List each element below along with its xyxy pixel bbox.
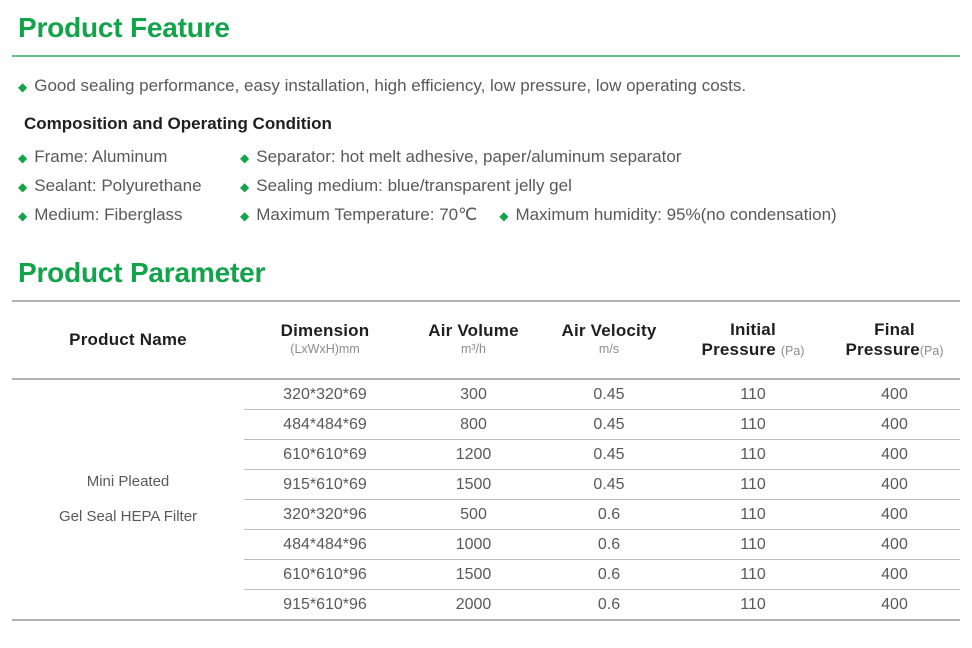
cell-initial-pressure: 110 — [677, 440, 829, 470]
diamond-bullet-icon: ◆ — [240, 210, 249, 222]
cell-air-velocity: 0.6 — [541, 500, 677, 530]
cell-air-velocity: 0.45 — [541, 470, 677, 500]
table-row: Mini Pleated Gel Seal HEPA Filter 320*32… — [12, 379, 960, 410]
column-header-title-text: Pressure — [846, 340, 920, 359]
cell-air-velocity: 0.6 — [541, 590, 677, 620]
composition-item-sealant: ◆ Sealant: Polyurethane — [18, 177, 240, 194]
cell-initial-pressure: 110 — [677, 590, 829, 620]
cell-final-pressure: 400 — [829, 560, 960, 590]
cell-final-pressure: 400 — [829, 379, 960, 410]
cell-air-velocity: 0.6 — [541, 560, 677, 590]
cell-initial-pressure: 110 — [677, 470, 829, 500]
column-header-title: Product Name — [12, 330, 244, 350]
composition-item-label: Separator: hot melt adhesive, paper/alum… — [256, 148, 681, 165]
column-header-title-text: Pressure — [702, 340, 776, 359]
table-body: Mini Pleated Gel Seal HEPA Filter 320*32… — [12, 379, 960, 619]
composition-item-frame: ◆ Frame: Aluminum — [18, 148, 240, 165]
column-header-dimension: Dimension (LxWxH)mm — [244, 302, 406, 379]
cell-air-volume: 1200 — [406, 440, 541, 470]
column-header-title: Dimension — [244, 321, 406, 341]
cell-dimension: 915*610*69 — [244, 470, 406, 500]
diamond-bullet-icon: ◆ — [18, 81, 27, 93]
product-feature-divider — [12, 55, 960, 57]
cell-final-pressure: 400 — [829, 530, 960, 560]
diamond-bullet-icon: ◆ — [240, 152, 249, 164]
cell-dimension: 320*320*69 — [244, 379, 406, 410]
cell-final-pressure: 400 — [829, 500, 960, 530]
cell-air-volume: 2000 — [406, 590, 541, 620]
composition-sub-heading: Composition and Operating Condition — [18, 115, 960, 132]
column-header-air-volume: Air Volume m³/h — [406, 302, 541, 379]
product-spec-page: Product Feature ◆ Good sealing performan… — [0, 0, 972, 648]
product-parameter-table: Product Name Dimension (LxWxH)mm Air Vol… — [12, 302, 960, 619]
cell-dimension: 610*610*69 — [244, 440, 406, 470]
cell-final-pressure: 400 — [829, 590, 960, 620]
diamond-bullet-icon: ◆ — [18, 210, 27, 222]
cell-dimension: 320*320*96 — [244, 500, 406, 530]
product-name-line-1: Mini Pleated — [12, 465, 244, 500]
composition-item-label: Frame: Aluminum — [34, 148, 167, 165]
product-parameter-header-wrap: Product Parameter — [12, 245, 960, 302]
cell-final-pressure: 400 — [829, 410, 960, 440]
cell-final-pressure: 400 — [829, 470, 960, 500]
feature-bullet-item: ◆ Good sealing performance, easy install… — [18, 77, 960, 94]
composition-item-medium: ◆ Medium: Fiberglass — [18, 206, 240, 223]
product-feature-heading: Product Feature — [12, 0, 960, 42]
cell-air-volume: 800 — [406, 410, 541, 440]
column-header-unit: (LxWxH)mm — [244, 340, 406, 359]
composition-row: ◆ Medium: Fiberglass ◆ Maximum Temperatu… — [18, 206, 960, 223]
diamond-bullet-icon: ◆ — [18, 152, 27, 164]
cell-product-name: Mini Pleated Gel Seal HEPA Filter — [12, 379, 244, 619]
column-header-final-pressure: Final Pressure(Pa) — [829, 302, 960, 379]
table-bottom-divider — [12, 619, 960, 621]
table-header: Product Name Dimension (LxWxH)mm Air Vol… — [12, 302, 960, 379]
cell-dimension: 484*484*96 — [244, 530, 406, 560]
cell-air-velocity: 0.45 — [541, 379, 677, 410]
composition-item-max-temperature: ◆ Maximum Temperature: 70℃ — [240, 206, 477, 223]
composition-item-sealing-medium: ◆ Sealing medium: blue/transparent jelly… — [240, 177, 572, 194]
cell-air-volume: 1000 — [406, 530, 541, 560]
column-header-title: Air Velocity — [541, 321, 677, 341]
feature-bullet-text: Good sealing performance, easy installat… — [34, 77, 746, 94]
composition-item-separator: ◆ Separator: hot melt adhesive, paper/al… — [240, 148, 681, 165]
column-header-title-line1: Initial — [677, 320, 829, 340]
cell-air-volume: 500 — [406, 500, 541, 530]
cell-dimension: 915*610*96 — [244, 590, 406, 620]
composition-item-label: Maximum humidity: 95%(no condensation) — [515, 206, 836, 223]
product-feature-body: ◆ Good sealing performance, easy install… — [12, 77, 960, 132]
composition-row: ◆ Frame: Aluminum ◆ Separator: hot melt … — [18, 148, 960, 165]
composition-row: ◆ Sealant: Polyurethane ◆ Sealing medium… — [18, 177, 960, 194]
column-header-title-line2: Pressure (Pa) — [677, 340, 829, 360]
column-header-air-velocity: Air Velocity m/s — [541, 302, 677, 379]
cell-air-velocity: 0.6 — [541, 530, 677, 560]
column-header-unit: (Pa) — [920, 344, 944, 358]
column-header-unit: (Pa) — [781, 344, 805, 358]
cell-dimension: 484*484*69 — [244, 410, 406, 440]
column-header-unit: m³/h — [406, 340, 541, 359]
composition-item-label: Sealant: Polyurethane — [34, 177, 201, 194]
product-name-line-2: Gel Seal HEPA Filter — [12, 500, 244, 535]
cell-initial-pressure: 110 — [677, 530, 829, 560]
cell-air-volume: 1500 — [406, 470, 541, 500]
composition-item-max-humidity: ◆ Maximum humidity: 95%(no condensation) — [499, 206, 837, 223]
column-header-initial-pressure: Initial Pressure (Pa) — [677, 302, 829, 379]
composition-item-label: Medium: Fiberglass — [34, 206, 182, 223]
product-parameter-heading: Product Parameter — [12, 245, 960, 287]
cell-dimension: 610*610*96 — [244, 560, 406, 590]
column-header-title-line2: Pressure(Pa) — [829, 340, 960, 360]
column-header-title: Air Volume — [406, 321, 541, 341]
cell-air-velocity: 0.45 — [541, 410, 677, 440]
composition-grid: ◆ Frame: Aluminum ◆ Separator: hot melt … — [12, 148, 960, 223]
cell-air-velocity: 0.45 — [541, 440, 677, 470]
cell-air-volume: 1500 — [406, 560, 541, 590]
diamond-bullet-icon: ◆ — [499, 210, 508, 222]
diamond-bullet-icon: ◆ — [18, 181, 27, 193]
table-header-row: Product Name Dimension (LxWxH)mm Air Vol… — [12, 302, 960, 379]
cell-air-volume: 300 — [406, 379, 541, 410]
composition-item-label: Maximum Temperature: 70℃ — [256, 206, 477, 223]
cell-initial-pressure: 110 — [677, 500, 829, 530]
column-header-unit: m/s — [541, 340, 677, 359]
cell-initial-pressure: 110 — [677, 410, 829, 440]
composition-item-label: Sealing medium: blue/transparent jelly g… — [256, 177, 572, 194]
cell-initial-pressure: 110 — [677, 379, 829, 410]
cell-initial-pressure: 110 — [677, 560, 829, 590]
cell-final-pressure: 400 — [829, 440, 960, 470]
column-header-product-name: Product Name — [12, 302, 244, 379]
column-header-title-line1: Final — [829, 320, 960, 340]
diamond-bullet-icon: ◆ — [240, 181, 249, 193]
